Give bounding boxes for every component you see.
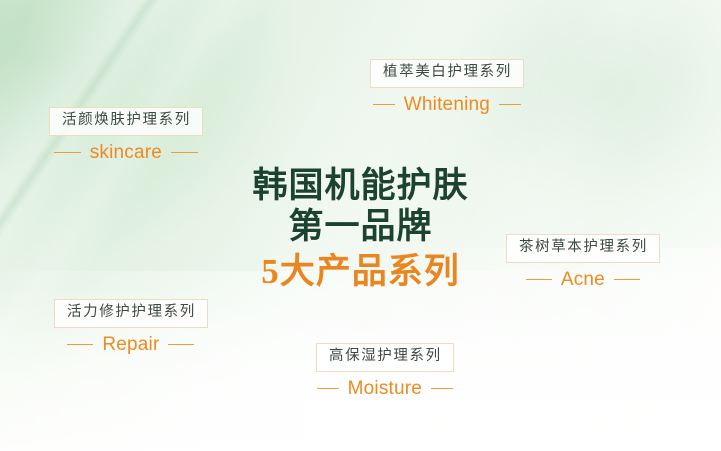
dash-left-icon — [317, 388, 339, 389]
dash-left-icon — [373, 104, 395, 105]
dash-left-icon — [526, 279, 552, 280]
series-label-moisture-cn: 高保湿护理系列 — [316, 343, 454, 372]
headline-line-1: 韩国机能护肤 — [0, 166, 721, 205]
series-label-repair[interactable]: 活力修护护理系列 Repair — [54, 299, 208, 355]
series-label-repair-cn: 活力修护护理系列 — [54, 299, 208, 328]
series-label-acne-cn: 茶树草本护理系列 — [506, 234, 660, 263]
series-label-whitening[interactable]: 植萃美白护理系列 Whitening — [370, 59, 524, 115]
series-label-skincare-en-row: skincare — [49, 143, 203, 163]
dash-right-icon — [499, 104, 521, 105]
series-label-moisture-en-row: Moisture — [316, 379, 454, 399]
dash-right-icon — [168, 344, 194, 345]
series-label-repair-en: Repair — [102, 335, 159, 355]
series-label-skincare[interactable]: 活颜焕肤护理系列 skincare — [49, 107, 203, 163]
series-label-repair-en-row: Repair — [54, 335, 208, 355]
dash-right-icon — [614, 279, 640, 280]
series-label-skincare-en: skincare — [90, 143, 162, 163]
series-label-acne[interactable]: 茶树草本护理系列 Acne — [506, 234, 660, 290]
series-label-moisture-en: Moisture — [348, 379, 422, 399]
dash-right-icon — [171, 152, 198, 153]
dash-right-icon — [431, 388, 453, 389]
dash-left-icon — [67, 344, 93, 345]
series-label-whitening-en-row: Whitening — [370, 95, 524, 115]
promo-banner: 韩国机能护肤 第一品牌 5大产品系列 活颜焕肤护理系列 skincare 植萃美… — [0, 0, 721, 451]
series-label-whitening-en: Whitening — [404, 95, 490, 115]
series-label-skincare-cn: 活颜焕肤护理系列 — [49, 107, 203, 136]
series-label-whitening-cn: 植萃美白护理系列 — [370, 59, 524, 88]
series-label-moisture[interactable]: 高保湿护理系列 Moisture — [316, 343, 454, 399]
dash-left-icon — [54, 152, 81, 153]
series-label-acne-en-row: Acne — [506, 270, 660, 290]
series-label-acne-en: Acne — [561, 270, 605, 290]
